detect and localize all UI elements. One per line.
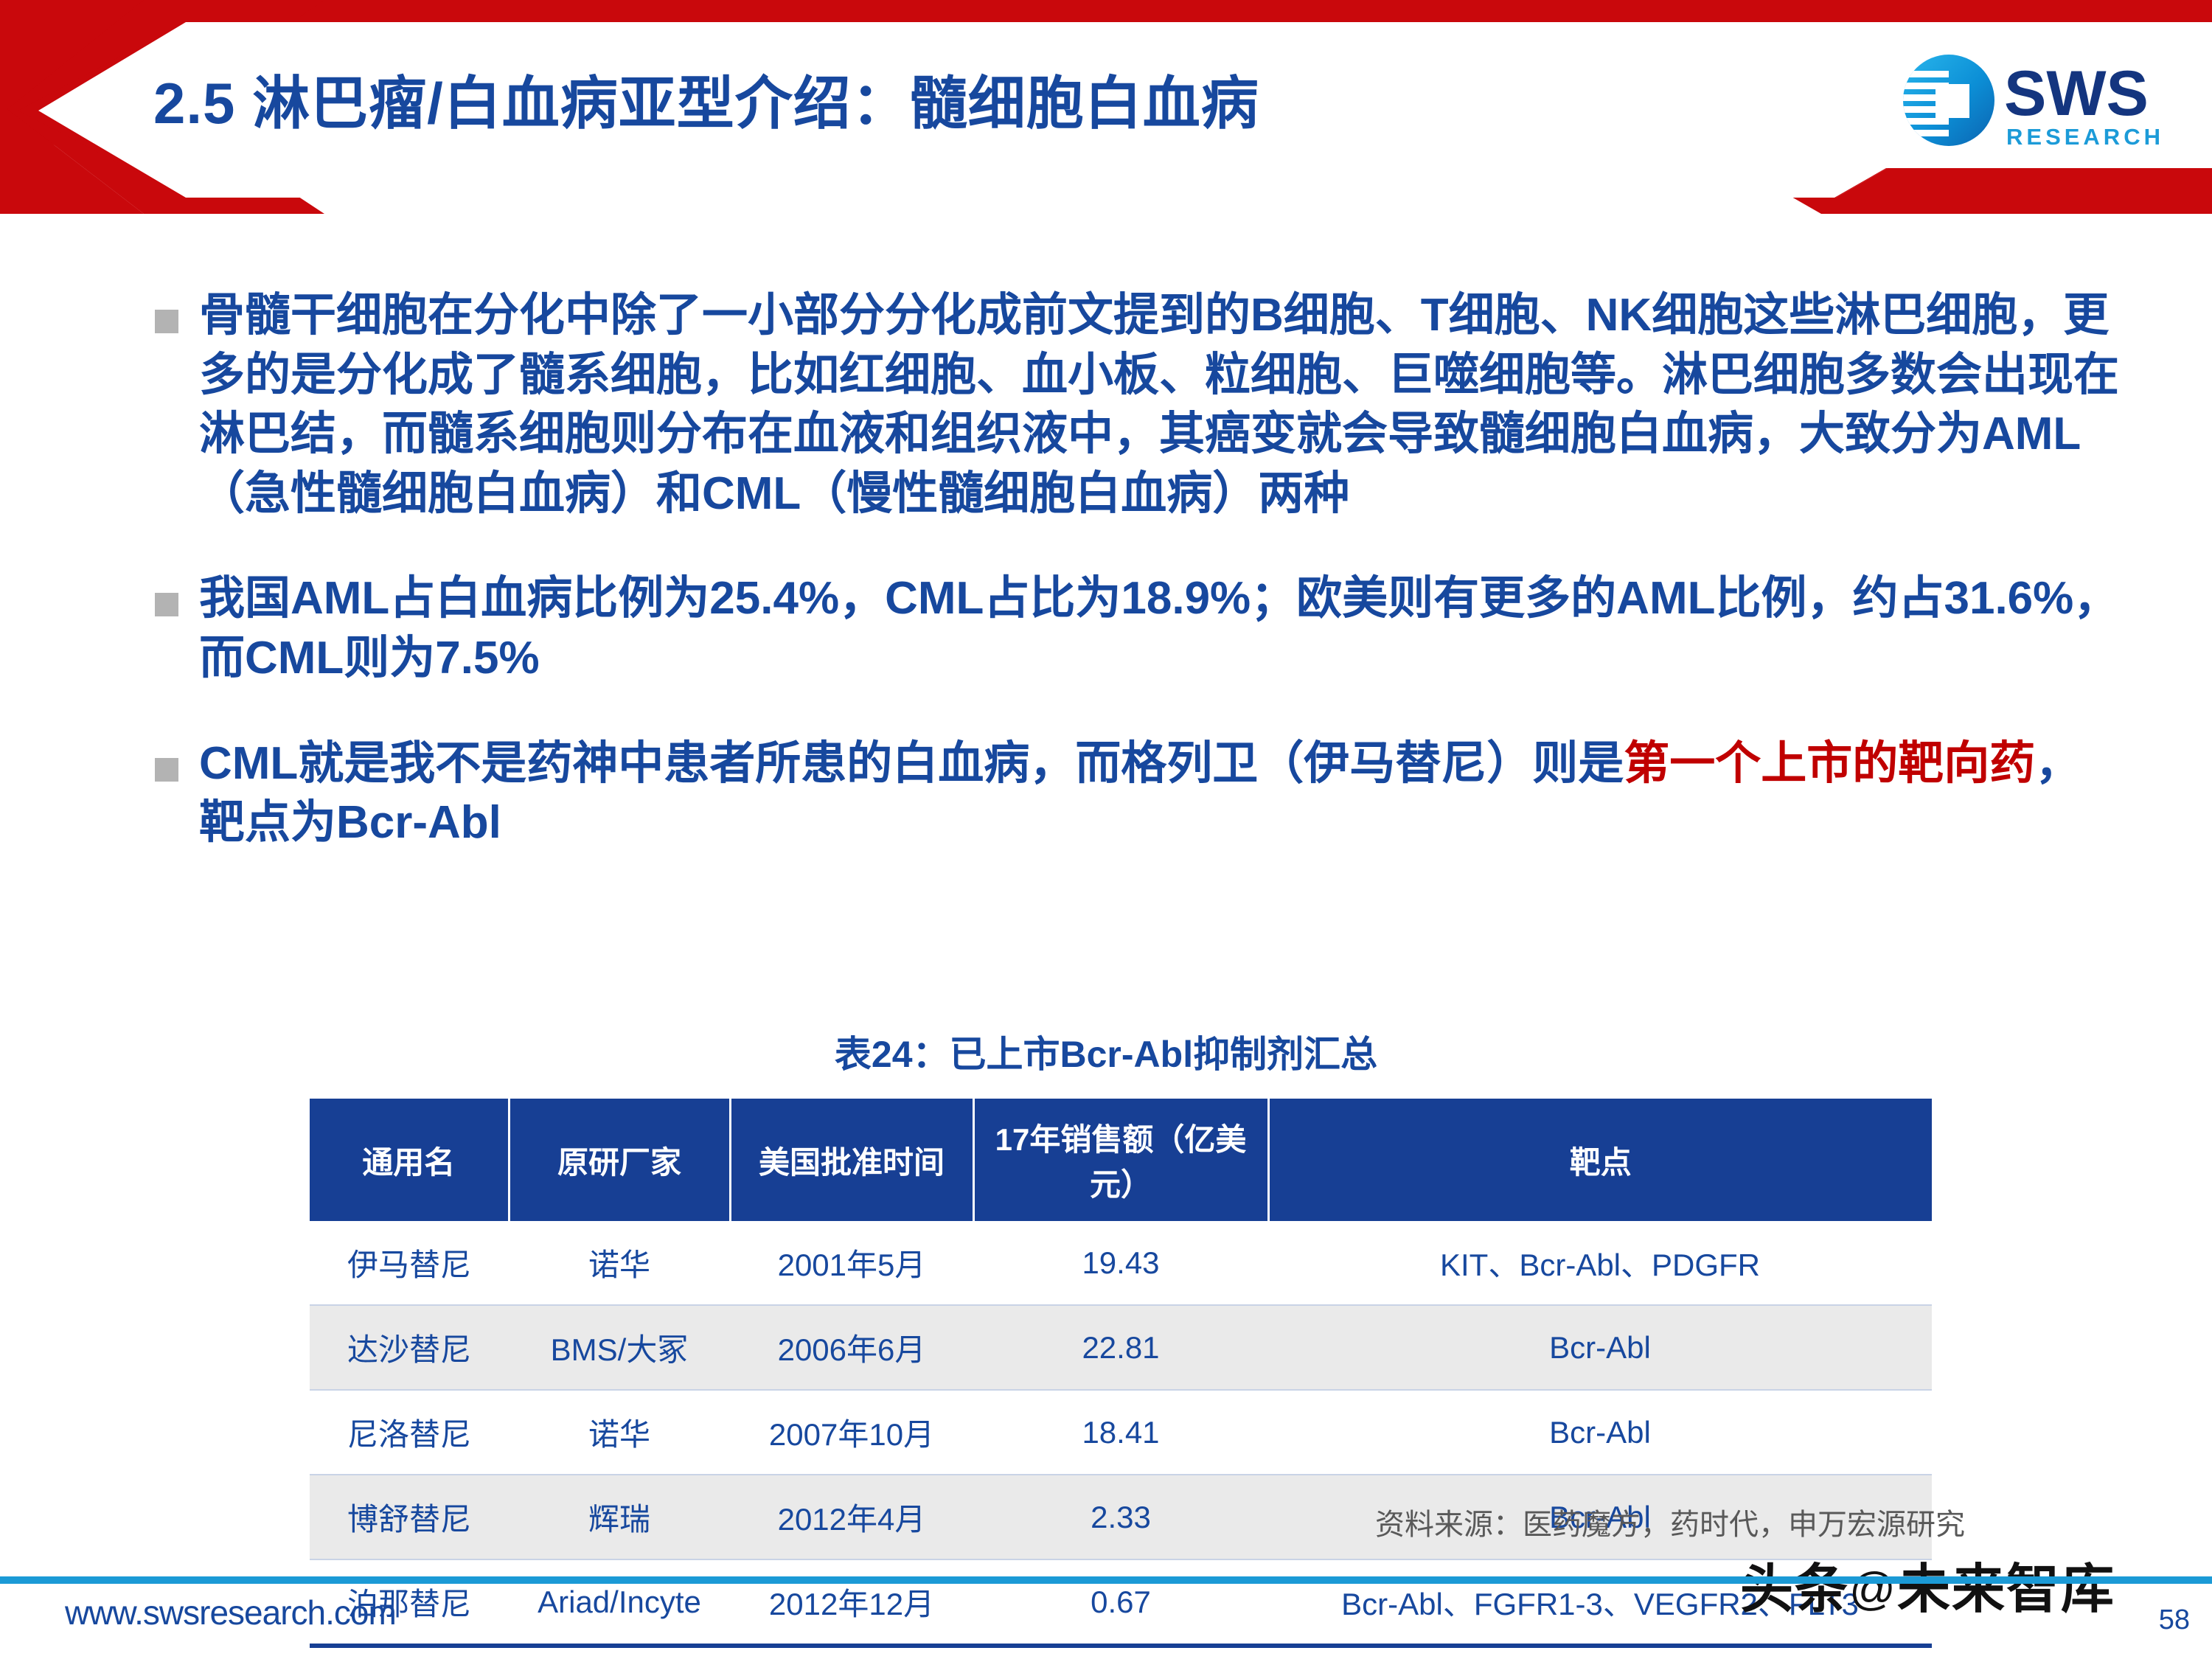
- cell-us-approval: 2001年5月: [730, 1221, 973, 1305]
- col-header-us-approval: 美国批准时间: [730, 1099, 973, 1221]
- bullet-text-3-before: CML就是我不是药神中患者所患的白血病，而格列卫（伊马替尼）则是: [199, 738, 1624, 789]
- table-source-note: 资料来源：医药魔方，药时代，申万宏源研究: [0, 1500, 1965, 1543]
- bullet-item-1: 骨髓干细胞在分化中除了一小部分分化成前文提到的B细胞、T细胞、NK细胞这些淋巴细…: [0, 286, 2212, 524]
- bcr-abl-inhibitors-table: 通用名 原研厂家 美国批准时间 17年销售额（亿美元） 靶点 伊马替尼 诺华 2…: [310, 1099, 1932, 1648]
- bullet-square-icon: [155, 310, 178, 333]
- bullet-list: 骨髓干细胞在分化中除了一小部分分化成前文提到的B细胞、T细胞、NK细胞这些淋巴细…: [0, 243, 2212, 853]
- watermark-left-text: 头条: [1740, 1560, 1849, 1619]
- page-title: 2.5 淋巴瘤/白血病亚型介绍：髓细胞白血病: [153, 72, 1849, 136]
- col-header-2017-sales: 17年销售额（亿美元）: [973, 1099, 1268, 1221]
- bullet-text-3: CML就是我不是药神中患者所患的白血病，而格列卫（伊马替尼）则是第一个上市的靶向…: [199, 734, 2124, 853]
- bullet-square-icon: [155, 758, 178, 782]
- cell-2017-sales: 22.81: [973, 1305, 1268, 1390]
- bullet-item-3: CML就是我不是药神中患者所患的白血病，而格列卫（伊马替尼）则是第一个上市的靶向…: [0, 734, 2212, 853]
- cell-2017-sales: 0.67: [973, 1559, 1268, 1646]
- footer-divider: [0, 1576, 2212, 1584]
- watermark: 头条@未来智库: [1740, 1545, 2115, 1623]
- sws-research-logo: SWS RESEARCH: [1901, 35, 2166, 164]
- cell-generic-name: 伊马替尼: [310, 1221, 509, 1305]
- table-row: 泊那替尼 Ariad/Incyte 2012年12月 0.67 Bcr-Abl、…: [310, 1559, 1932, 1646]
- table-container: 通用名 原研厂家 美国批准时间 17年销售额（亿美元） 靶点 伊马替尼 诺华 2…: [310, 1099, 1932, 1648]
- cell-target: Bcr-Abl: [1268, 1390, 1932, 1475]
- table-header-row: 通用名 原研厂家 美国批准时间 17年销售额（亿美元） 靶点: [310, 1099, 1932, 1221]
- logo-wordmark: SWS: [2004, 58, 2149, 129]
- table-row: 尼洛替尼 诺华 2007年10月 18.41 Bcr-Abl: [310, 1390, 1932, 1475]
- table-caption: 表24：已上市Bcr-Abl抑制剂汇总: [0, 1025, 2212, 1078]
- col-header-generic-name: 通用名: [310, 1099, 509, 1221]
- cell-generic-name: 尼洛替尼: [310, 1390, 509, 1475]
- bullet-text-3-highlight: 第一个上市的靶向药: [1624, 738, 2035, 789]
- cell-2017-sales: 19.43: [973, 1221, 1268, 1305]
- cell-originator: Ariad/Incyte: [509, 1559, 730, 1646]
- slide-root: 2.5 淋巴瘤/白血病亚型介绍：髓细胞白血病: [0, 0, 2212, 1659]
- globe-mark: [1901, 55, 1994, 146]
- bullet-square-icon: [155, 593, 178, 616]
- cell-us-approval: 2012年12月: [730, 1559, 973, 1646]
- cell-us-approval: 2006年6月: [730, 1305, 973, 1390]
- bullet-item-2: 我国AML占白血病比例为25.4%，CML占比为18.9%；欧美则有更多的AML…: [0, 569, 2212, 688]
- cell-target: Bcr-Abl: [1268, 1305, 1932, 1390]
- table-header: 通用名 原研厂家 美国批准时间 17年销售额（亿美元） 靶点: [310, 1099, 1932, 1221]
- watermark-at-icon: @: [1849, 1563, 1897, 1615]
- cell-generic-name: 达沙替尼: [310, 1305, 509, 1390]
- table-row: 达沙替尼 BMS/大冢 2006年6月 22.81 Bcr-Abl: [310, 1305, 1932, 1390]
- cell-target: KIT、Bcr-Abl、PDGFR: [1268, 1221, 1932, 1305]
- watermark-right-text: 未来智库: [1897, 1560, 2115, 1619]
- footer-website-link[interactable]: www.swsresearch.com: [65, 1593, 396, 1632]
- bullet-text-2: 我国AML占白血病比例为25.4%，CML占比为18.9%；欧美则有更多的AML…: [199, 569, 2124, 688]
- cell-2017-sales: 18.41: [973, 1390, 1268, 1475]
- col-header-originator: 原研厂家: [509, 1099, 730, 1221]
- logo-subtitle: RESEARCH: [2006, 124, 2164, 150]
- cell-us-approval: 2007年10月: [730, 1390, 973, 1475]
- table-row: 伊马替尼 诺华 2001年5月 19.43 KIT、Bcr-Abl、PDGFR: [310, 1221, 1932, 1305]
- page-number: 58: [2159, 1604, 2190, 1636]
- cell-originator: BMS/大冢: [509, 1305, 730, 1390]
- cell-originator: 诺华: [509, 1390, 730, 1475]
- bullet-text-1: 骨髓干细胞在分化中除了一小部分分化成前文提到的B细胞、T细胞、NK细胞这些淋巴细…: [199, 286, 2124, 524]
- cell-originator: 诺华: [509, 1221, 730, 1305]
- col-header-target: 靶点: [1268, 1099, 1932, 1221]
